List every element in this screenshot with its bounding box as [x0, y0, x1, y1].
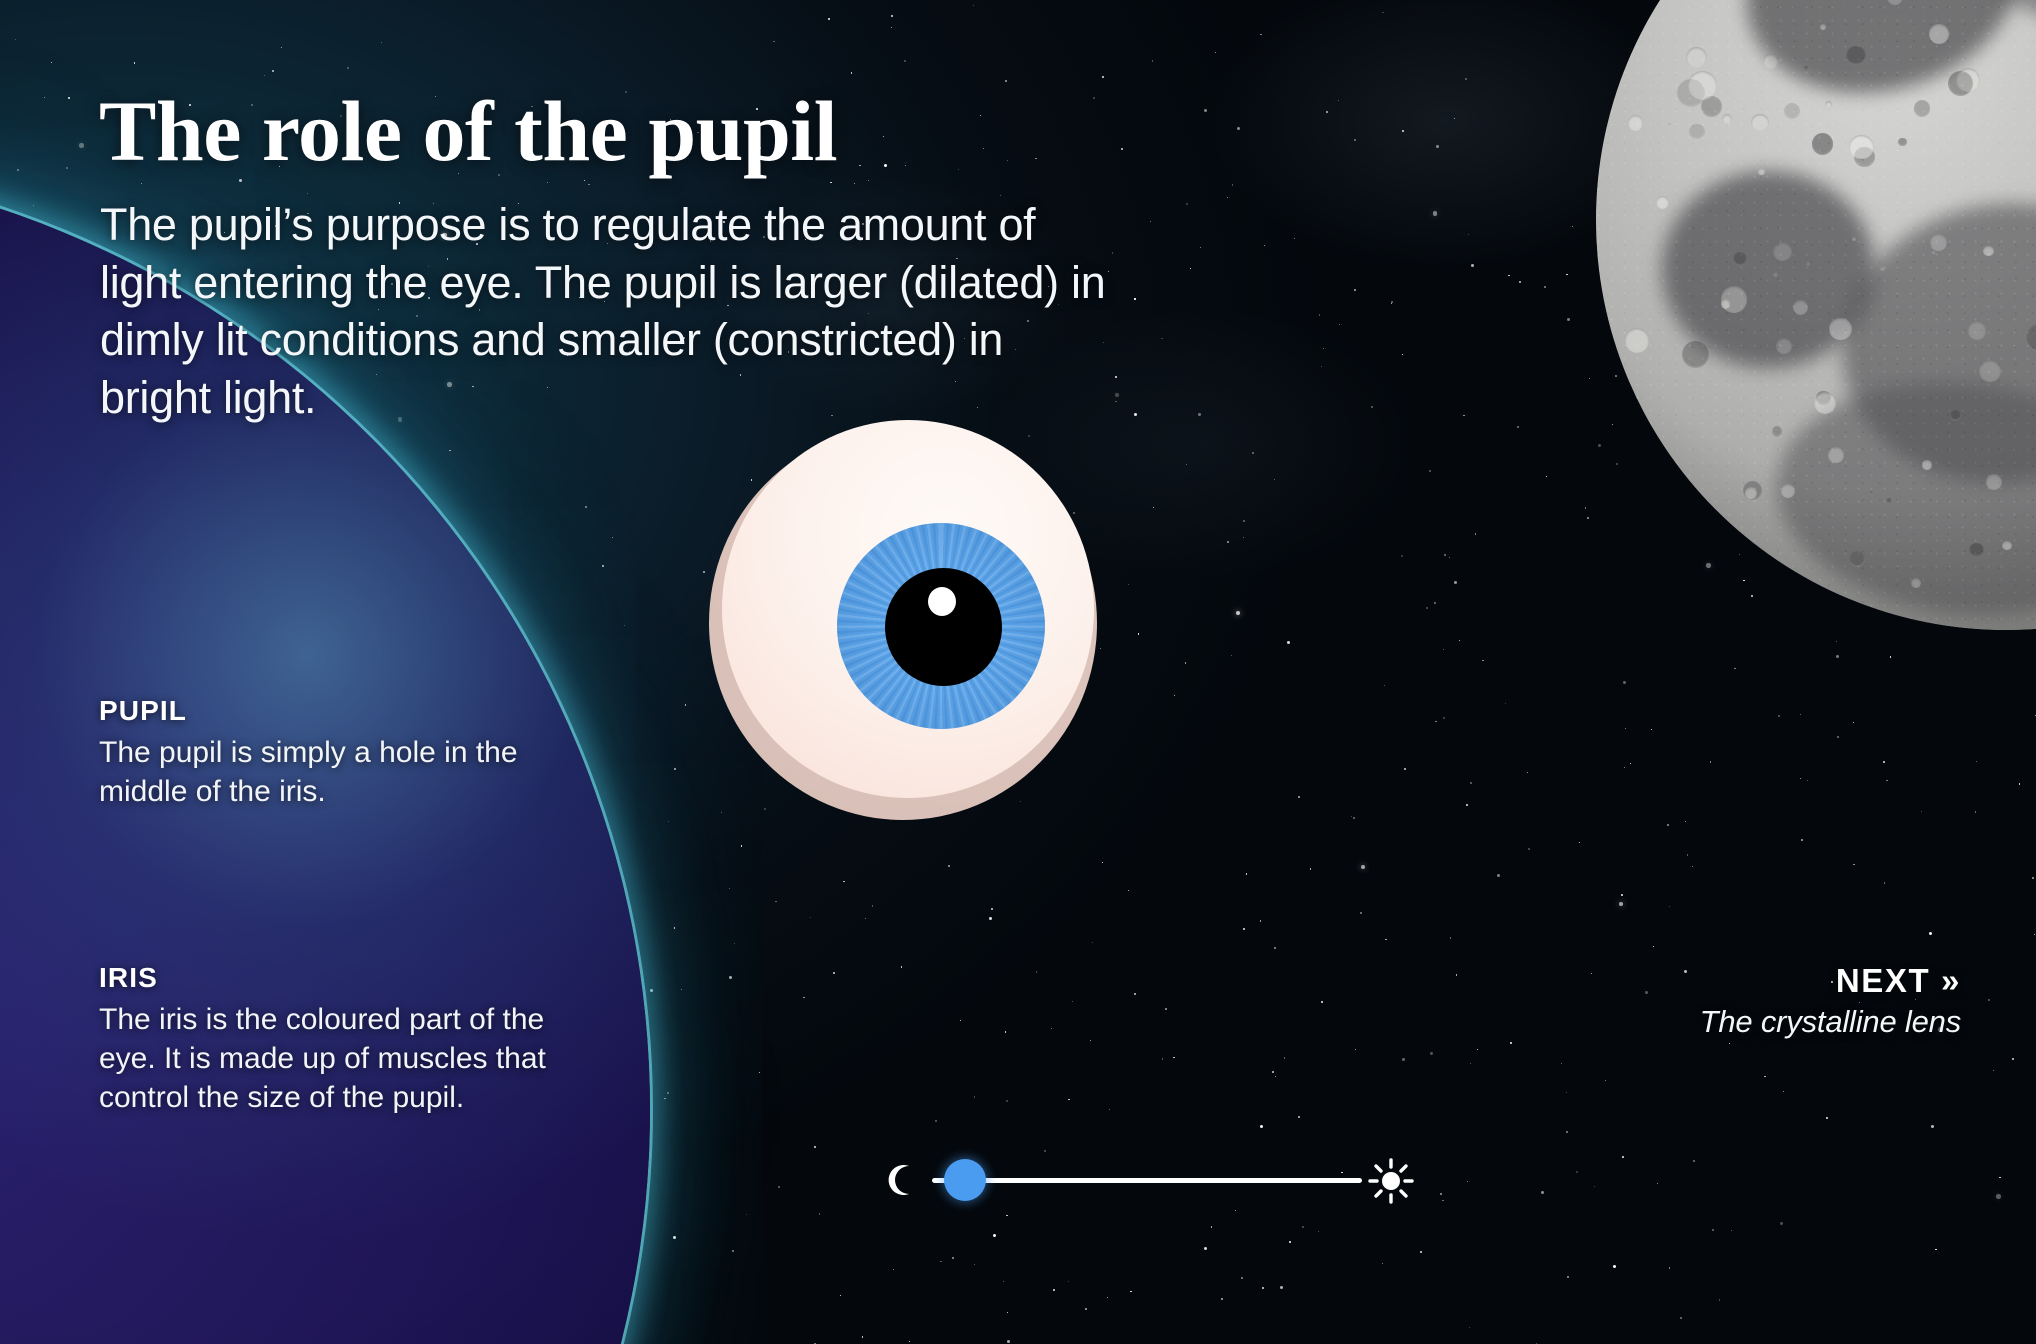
next-label[interactable]: NEXT »: [1700, 962, 1961, 1000]
callout-pupil-title: PUPIL: [99, 695, 539, 727]
infographic-stage: The role of the pupil The pupil’s purpos…: [0, 0, 2036, 1344]
pupil: [885, 568, 1002, 686]
callout-iris-body: The iris is the coloured part of the eye…: [99, 1000, 559, 1117]
callout-pupil-body: The pupil is simply a hole in the middle…: [99, 733, 539, 811]
callout-iris-title: IRIS: [99, 962, 559, 994]
corneal-highlight: [928, 587, 956, 616]
crescent-moon-icon: [884, 1162, 920, 1198]
next-navigation[interactable]: NEXT » The crystalline lens: [1700, 962, 1961, 1040]
sun-icon: [1368, 1158, 1414, 1204]
callout-pupil: PUPIL The pupil is simply a hole in the …: [99, 695, 539, 811]
next-subtitle[interactable]: The crystalline lens: [1700, 1004, 1961, 1040]
page-title: The role of the pupil: [99, 88, 837, 176]
light-level-slider[interactable]: [884, 1152, 1414, 1208]
callout-iris: IRIS The iris is the coloured part of th…: [99, 962, 559, 1117]
eyeball-diagram: [709, 420, 1097, 820]
slider-thumb[interactable]: [944, 1159, 986, 1201]
intro-paragraph: The pupil’s purpose is to regulate the a…: [100, 196, 1110, 426]
slider-track[interactable]: [932, 1178, 1362, 1183]
